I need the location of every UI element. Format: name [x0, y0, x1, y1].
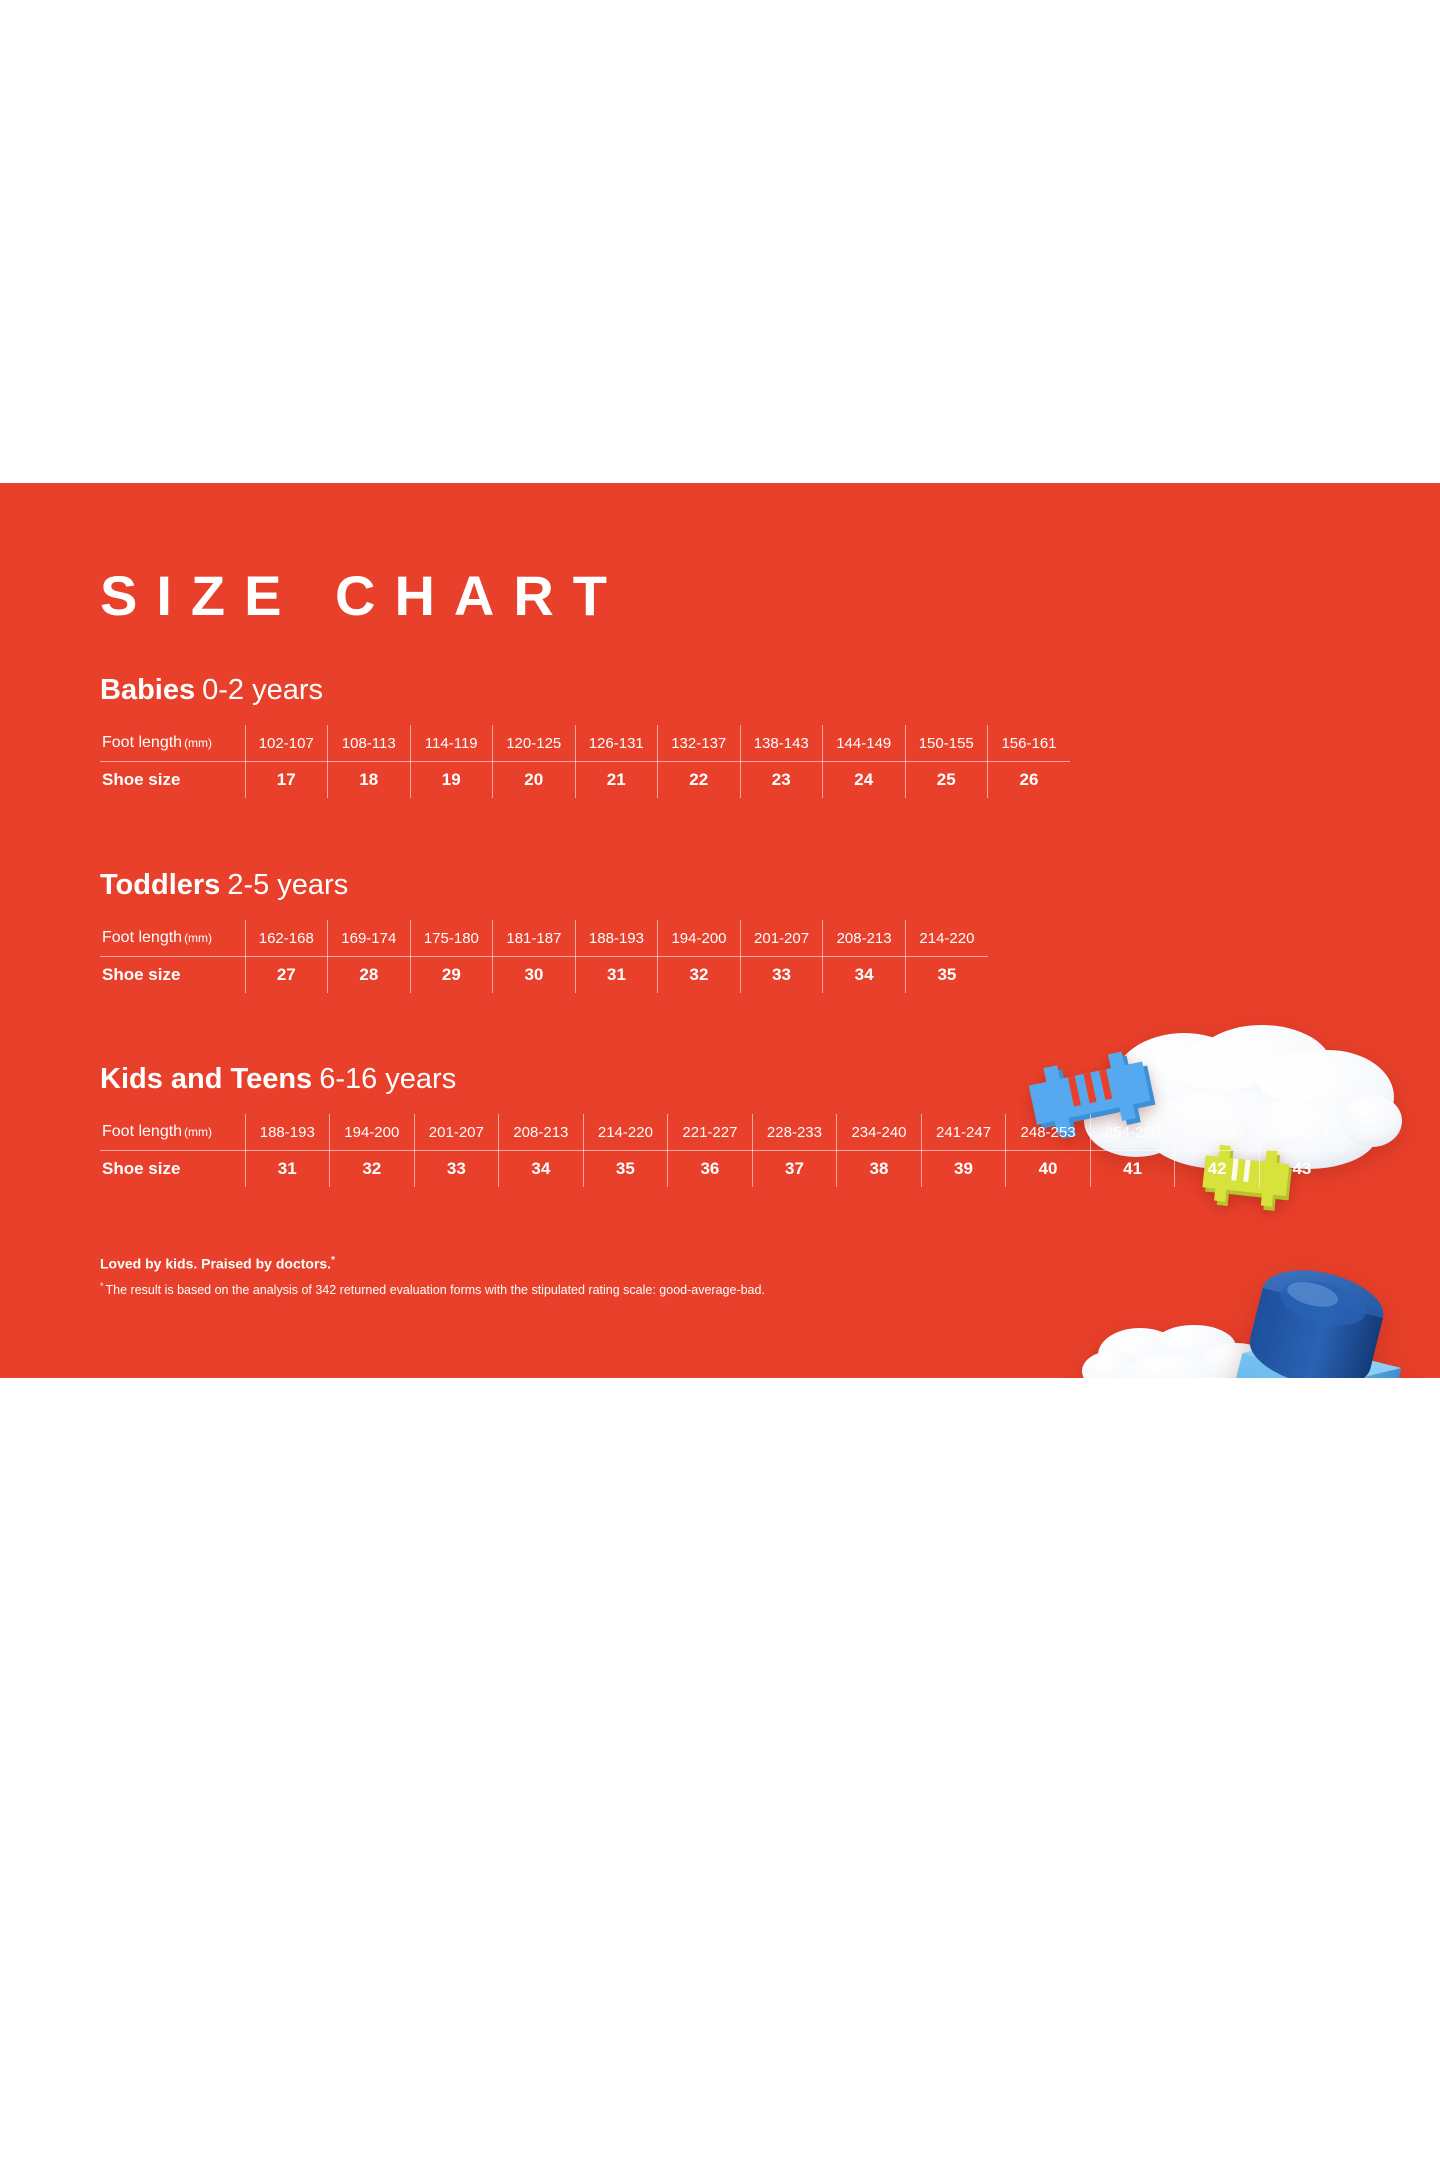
cell-foot-length: 162-168	[245, 920, 328, 957]
cell-foot-length: 194-200	[330, 1114, 415, 1151]
cell-shoe-size: 24	[823, 762, 906, 799]
cell-shoe-size: 32	[330, 1151, 415, 1188]
section-heading-kids-and-teens: Kids and Teens6-16 years	[100, 1065, 1344, 1094]
foot-length-text: Foot length	[102, 929, 182, 946]
cell-foot-length: 188-193	[575, 920, 658, 957]
size-table-kids-and-teens: Foot length(mm) 188-193 194-200 201-207 …	[100, 1114, 1344, 1187]
cell-shoe-size: 38	[837, 1151, 922, 1188]
section-heading-babies: Babies0-2 years	[100, 676, 1070, 705]
cell-foot-length: 228-233	[752, 1114, 837, 1151]
section-age-range: 2-5 years	[227, 869, 348, 901]
cell-foot-length: 221-227	[668, 1114, 753, 1151]
red-poster-panel: SIZE CHART Babies0-2 years Foot length(m…	[0, 483, 1440, 1378]
cell-foot-length: 132-137	[658, 725, 741, 762]
cell-foot-length: 214-220	[583, 1114, 668, 1151]
cell-shoe-size: 19	[410, 762, 493, 799]
cell-foot-length: 234-240	[837, 1114, 922, 1151]
cell-shoe-size: 33	[414, 1151, 499, 1188]
section-age-range: 6-16 years	[319, 1063, 456, 1095]
cell-foot-length: 248-253	[1006, 1114, 1091, 1151]
cell-foot-length: 126-131	[575, 725, 658, 762]
cell-foot-length: 181-187	[493, 920, 576, 957]
row-label-shoe-size: Shoe size	[100, 1151, 245, 1188]
cell-foot-length: 169-174	[328, 920, 411, 957]
size-table-toddlers: Foot length(mm) 162-168 169-174 175-180 …	[100, 920, 988, 993]
cell-foot-length: 208-213	[823, 920, 906, 957]
cell-shoe-size: 41	[1090, 1151, 1175, 1188]
section-toddlers: Toddlers2-5 years Foot length(mm) 162-16…	[100, 871, 988, 993]
row-label-foot-length: Foot length(mm)	[100, 725, 245, 762]
cell-foot-length: 102-107	[245, 725, 328, 762]
section-group-name: Toddlers	[100, 869, 220, 901]
cell-foot-length: 201-207	[740, 920, 823, 957]
cell-shoe-size: 18	[328, 762, 411, 799]
section-age-range: 0-2 years	[202, 674, 323, 706]
cell-foot-length: 214-220	[905, 920, 988, 957]
cell-foot-length: 120-125	[493, 725, 576, 762]
toy-block-icon	[1196, 1251, 1426, 1378]
cell-shoe-size: 35	[583, 1151, 668, 1188]
cell-shoe-size: 25	[905, 762, 988, 799]
cloud-icon	[1078, 1321, 1278, 1378]
footnote-marker: *	[100, 1281, 104, 1291]
cell-foot-length: 188-193	[245, 1114, 330, 1151]
cell-foot-length: 201-207	[414, 1114, 499, 1151]
footnote-marker: *	[331, 1255, 335, 1266]
cell-shoe-size: 26	[988, 762, 1071, 799]
foot-length-unit: (mm)	[184, 931, 212, 945]
cell-foot-length: 261-267	[1175, 1114, 1260, 1151]
cell-foot-length: 144-149	[823, 725, 906, 762]
cell-foot-length: 138-143	[740, 725, 823, 762]
row-label-shoe-size: Shoe size	[100, 957, 245, 994]
cell-foot-length: 208-213	[499, 1114, 584, 1151]
cell-foot-length: 108-113	[328, 725, 411, 762]
table-row-foot-length: Foot length(mm) 162-168 169-174 175-180 …	[100, 920, 988, 957]
cell-foot-length: 150-155	[905, 725, 988, 762]
row-label-foot-length: Foot length(mm)	[100, 920, 245, 957]
cell-foot-length: 254-260	[1090, 1114, 1175, 1151]
cell-shoe-size: 36	[668, 1151, 753, 1188]
cell-shoe-size: 23	[740, 762, 823, 799]
foot-length-unit: (mm)	[184, 1125, 212, 1139]
cell-shoe-size: 20	[493, 762, 576, 799]
cell-shoe-size: 32	[658, 957, 741, 994]
cell-shoe-size: 37	[752, 1151, 837, 1188]
cell-foot-length: 194-200	[658, 920, 741, 957]
cell-shoe-size: 21	[575, 762, 658, 799]
cell-foot-length: 156-161	[988, 725, 1071, 762]
cell-foot-length: 175-180	[410, 920, 493, 957]
section-kids-and-teens: Kids and Teens6-16 years Foot length(mm)…	[100, 1065, 1344, 1187]
cell-shoe-size: 34	[499, 1151, 584, 1188]
footer-claim-text: Loved by kids. Praised by doctors.	[100, 1256, 331, 1272]
table-row-foot-length: Foot length(mm) 188-193 194-200 201-207 …	[100, 1114, 1344, 1151]
foot-length-text: Foot length	[102, 734, 182, 751]
table-row-shoe-size: Shoe size 31 32 33 34 35 36 37 38 39 40 …	[100, 1151, 1344, 1188]
table-row-shoe-size: Shoe size 27 28 29 30 31 32 33 34 35	[100, 957, 988, 994]
cell-shoe-size: 34	[823, 957, 906, 994]
cell-shoe-size: 30	[493, 957, 576, 994]
cell-shoe-size: 31	[245, 1151, 330, 1188]
cell-shoe-size: 27	[245, 957, 328, 994]
size-chart-page: SIZE CHART Babies0-2 years Foot length(m…	[0, 0, 1440, 2160]
table-row-foot-length: Foot length(mm) 102-107 108-113 114-119 …	[100, 725, 1070, 762]
cell-shoe-size: 40	[1006, 1151, 1091, 1188]
section-group-name: Kids and Teens	[100, 1063, 312, 1095]
cell-foot-length: 268-274	[1259, 1114, 1344, 1151]
cell-shoe-size: 29	[410, 957, 493, 994]
cell-shoe-size: 42	[1175, 1151, 1260, 1188]
cell-shoe-size: 35	[905, 957, 988, 994]
table-row-shoe-size: Shoe size 17 18 19 20 21 22 23 24 25 26	[100, 762, 1070, 799]
cell-shoe-size: 33	[740, 957, 823, 994]
section-babies: Babies0-2 years Foot length(mm) 102-107 …	[100, 676, 1070, 798]
cell-shoe-size: 17	[245, 762, 328, 799]
cell-shoe-size: 22	[658, 762, 741, 799]
cell-shoe-size: 31	[575, 957, 658, 994]
section-group-name: Babies	[100, 674, 195, 706]
footer: Loved by kids. Praised by doctors.* *The…	[100, 1255, 765, 1299]
footer-note-text: The result is based on the analysis of 3…	[106, 1284, 765, 1298]
cell-shoe-size: 43	[1259, 1151, 1344, 1188]
foot-length-unit: (mm)	[184, 736, 212, 750]
row-label-shoe-size: Shoe size	[100, 762, 245, 799]
row-label-foot-length: Foot length(mm)	[100, 1114, 245, 1151]
footer-note: *The result is based on the analysis of …	[100, 1281, 765, 1298]
size-table-babies: Foot length(mm) 102-107 108-113 114-119 …	[100, 725, 1070, 798]
cell-foot-length: 241-247	[921, 1114, 1006, 1151]
foot-length-text: Foot length	[102, 1123, 182, 1140]
section-heading-toddlers: Toddlers2-5 years	[100, 871, 988, 900]
cell-shoe-size: 28	[328, 957, 411, 994]
cell-shoe-size: 39	[921, 1151, 1006, 1188]
footer-claim: Loved by kids. Praised by doctors.*	[100, 1255, 765, 1272]
page-title: SIZE CHART	[100, 568, 626, 624]
cell-foot-length: 114-119	[410, 725, 493, 762]
